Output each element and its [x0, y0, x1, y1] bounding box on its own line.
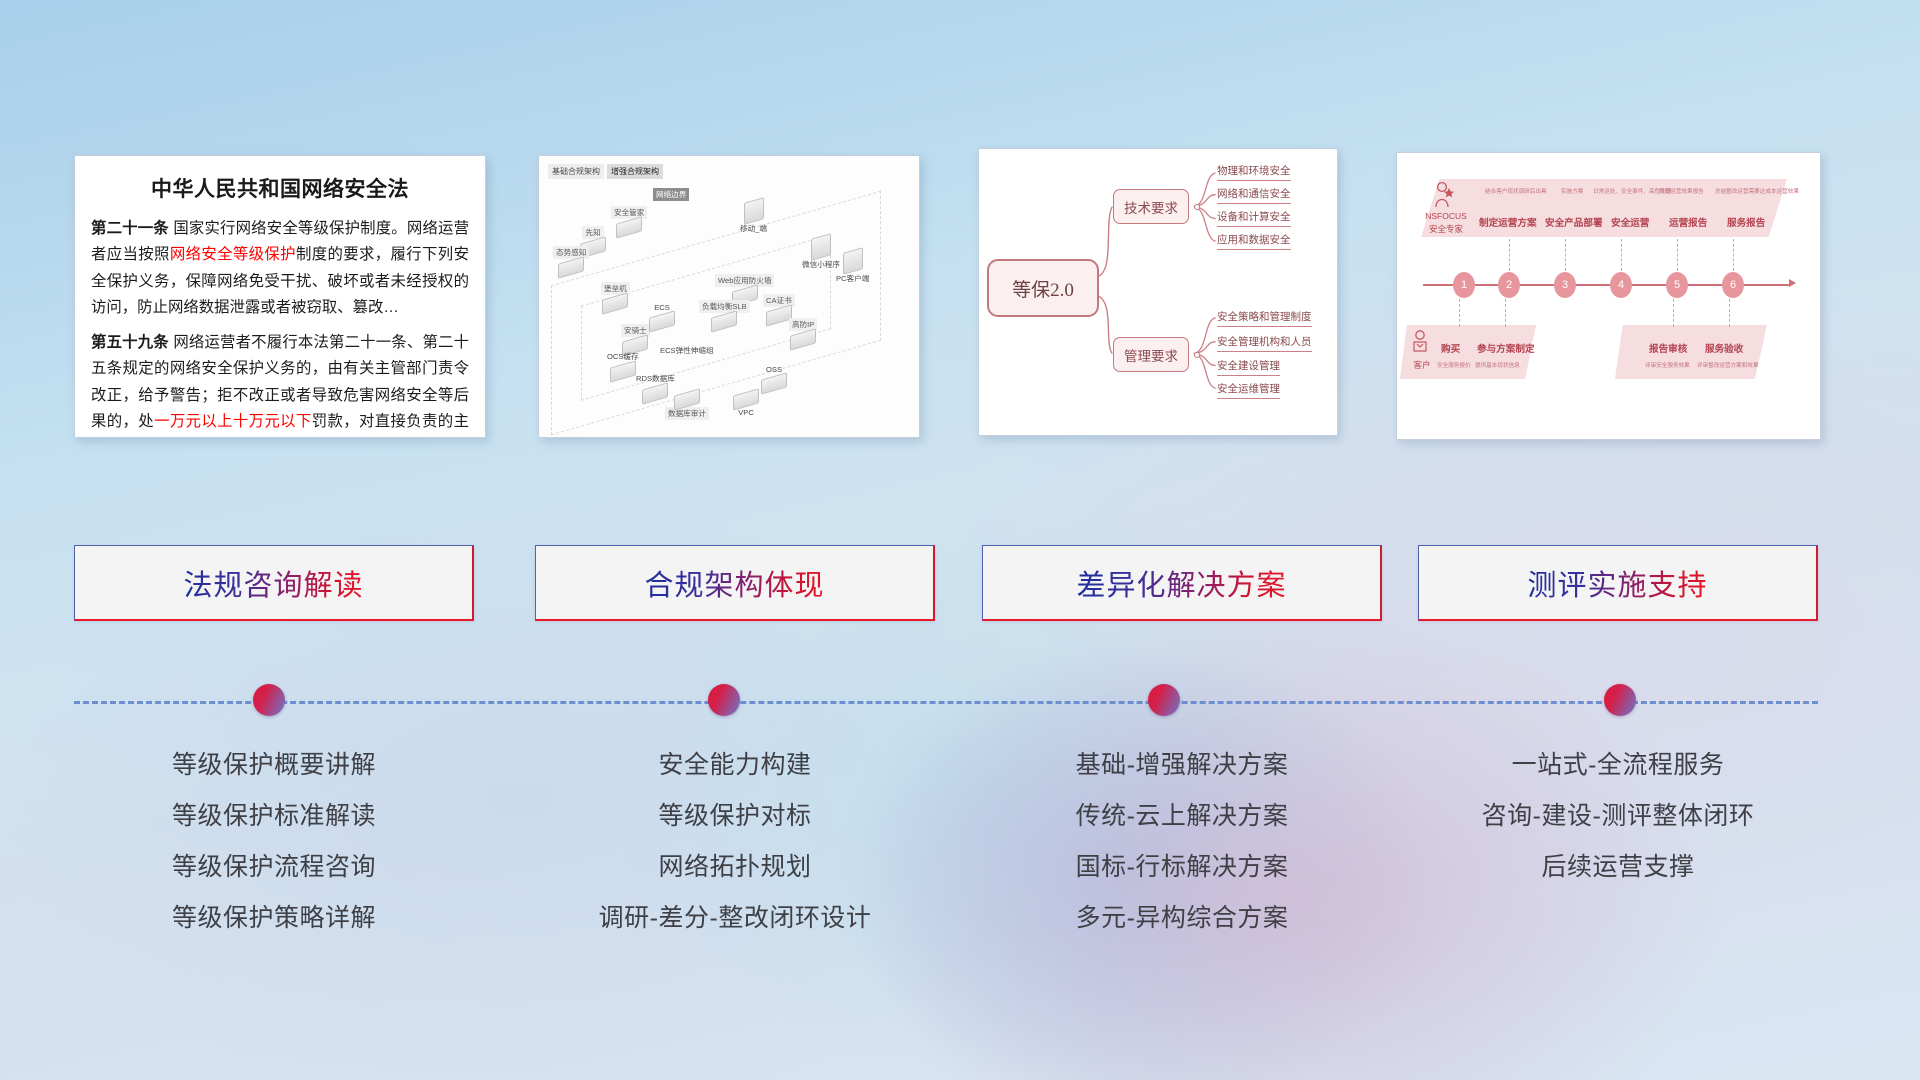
timeline-top-step-title: 安全产品部署	[1545, 215, 1603, 229]
architecture-node-security-butler: 安全管家	[611, 206, 647, 235]
rail-dot-3[interactable]	[1148, 684, 1180, 716]
mindmap-root-node: 等保2.0	[987, 259, 1099, 317]
timeline-connector	[1459, 299, 1460, 327]
architecture-node-label: PC客户端	[833, 272, 872, 285]
law-article-59: 第五十九条 网络运营者不履行本法第二十一条、第二十五条规定的网络安全保护义务的，…	[91, 330, 469, 438]
timeline-top-step-sub: 阶段运营效果报告	[1659, 187, 1704, 195]
architecture-node-ecs-scaling-group: ECS弹性伸缩组	[657, 344, 717, 358]
architecture-node-label: 数据库审计	[665, 407, 709, 420]
list-item: 等级保护流程咨询	[74, 842, 474, 893]
architecture-node-label: RDS数据库	[633, 372, 678, 385]
rail-dot-4[interactable]	[1604, 684, 1636, 716]
column-list-4: 一站式-全流程服务 咨询-建设-测评整体闭环 后续运营支撑	[1418, 740, 1818, 893]
customer-person-icon	[1411, 329, 1431, 357]
timeline-step-sub: 评审安全服务效果	[1645, 361, 1690, 369]
timeline-step-sub: 提供基本现状信息	[1475, 361, 1520, 369]
column-title-label: 差异化解决方案	[1076, 562, 1286, 604]
law-document-title: 中华人民共和国网络安全法	[75, 173, 485, 203]
architecture-tabs[interactable]: 基础合规架构 增强合规架构	[548, 164, 663, 179]
architecture-canvas: 网络边界 安全管家 先知 态势感知 堡垒机 安骑士 移动_端	[549, 178, 909, 427]
architecture-node-slb: 负载均衡SLB	[699, 300, 750, 329]
service-timeline: NSFOCUS 安全专家 结合客户现状调研后出具 制定运营方案 实施方案 安全产…	[1397, 153, 1820, 439]
column-title-box-4[interactable]: 测评实施支持	[1418, 545, 1818, 621]
timeline-step-title: 服务验收	[1705, 341, 1743, 355]
architecture-chip	[761, 372, 787, 394]
column-list-2: 安全能力构建 等级保护对标 网络拓扑规划 调研-差分-整改闭环设计	[535, 740, 935, 944]
timeline-top-step-sub: 实施方案	[1561, 187, 1583, 195]
timeline-arrow-icon	[1789, 279, 1796, 287]
architecture-node-ecs: ECS	[649, 302, 675, 329]
architecture-node-pc-client: PC客户端	[833, 250, 872, 286]
timeline-top-step-sub: 总结整改运营需要达成本运营效果	[1715, 187, 1799, 195]
architecture-node-situational-awareness: 态势感知	[553, 246, 589, 275]
timeline-customer-role-label: 客户	[1409, 359, 1435, 371]
law-article-21-highlight: 网络安全等级保护	[170, 246, 296, 263]
architecture-chip	[744, 197, 764, 225]
timeline-node-3[interactable]: 3	[1554, 272, 1576, 298]
law-article-59-label: 第五十九条	[91, 334, 169, 351]
architecture-chip	[811, 233, 831, 261]
list-item: 调研-差分-整改闭环设计	[535, 893, 935, 944]
mindmap-collapse-dot-icon[interactable]	[1194, 204, 1200, 210]
timeline-step-sub: 评审整改运营方案和效果	[1697, 361, 1759, 369]
law-article-59-highlight-1: 一万元以上十万元以下	[154, 413, 312, 430]
law-document-body: 第二十一条 国家实行网络安全等级保护制度。网络运营者应当按照网络安全等级保护制度…	[75, 216, 485, 438]
architecture-node-label: Web应用防火墙	[715, 274, 774, 287]
list-item: 等级保护标准解读	[74, 791, 474, 842]
architecture-tab-basic[interactable]: 基础合规架构	[548, 164, 604, 179]
architecture-node-bastion-host: 堡垒机	[601, 282, 630, 311]
architecture-diagram: 基础合规架构 增强合规架构 网络边界 安全管家 先知 态势感知	[539, 156, 919, 437]
list-item: 网络拓扑规划	[535, 842, 935, 893]
card-cybersecurity-law[interactable]: 中华人民共和国网络安全法 第二十一条 国家实行网络安全等级保护制度。网络运营者应…	[74, 155, 486, 438]
list-item: 安全能力构建	[535, 740, 935, 791]
list-item: 多元-异构综合方案	[982, 893, 1382, 944]
timeline-connector	[1673, 299, 1674, 327]
timeline-connector	[1733, 239, 1734, 271]
timeline-node-5[interactable]: 5	[1666, 272, 1688, 298]
column-title-label: 合规架构体现	[644, 562, 824, 604]
timeline-top-step-title: 安全运营	[1611, 215, 1649, 229]
timeline-top-step-sub: 结合客户现状调研后出具	[1485, 187, 1547, 195]
timeline-connector	[1621, 239, 1622, 271]
mindmap-collapse-dot-icon[interactable]	[1194, 352, 1200, 358]
mindmap-leaf: 安全运维管理	[1217, 381, 1280, 399]
timeline-connector	[1729, 299, 1730, 327]
list-item: 等级保护策略详解	[74, 893, 474, 944]
list-item: 咨询-建设-测评整体闭环	[1418, 791, 1818, 842]
timeline-step-title: 购买	[1441, 341, 1460, 355]
timeline-connector	[1509, 239, 1510, 271]
list-item: 等级保护对标	[535, 791, 935, 842]
timeline-connector	[1565, 239, 1566, 271]
column-title-box-3[interactable]: 差异化解决方案	[982, 545, 1382, 621]
architecture-node-label: ECS弹性伸缩组	[657, 344, 717, 357]
architecture-node-anti-ddos-ip: 高防IP	[789, 318, 817, 347]
mindmap-leaf: 设备和计算安全	[1217, 209, 1291, 227]
architecture-node-label: 移动_端	[737, 222, 770, 235]
list-item: 等级保护概要讲解	[74, 740, 474, 791]
timeline-step-sub: 安全服务报价	[1437, 361, 1471, 369]
timeline-step-title: 报告审核	[1649, 341, 1687, 355]
timeline-customer-band-right	[1615, 325, 1767, 379]
architecture-node-label: 负载均衡SLB	[699, 300, 750, 313]
screenshot-cards-row: 中华人民共和国网络安全法 第二十一条 国家实行网络安全等级保护制度。网络运营者应…	[0, 0, 1920, 450]
timeline-top-step-title: 制定运营方案	[1479, 215, 1537, 229]
timeline-top-step-title: 服务报告	[1727, 215, 1765, 229]
column-title-label: 测评实施支持	[1527, 562, 1707, 604]
timeline-connector	[1677, 239, 1678, 271]
architecture-node-mobile-client: 移动_端	[737, 200, 770, 236]
card-service-timeline[interactable]: NSFOCUS 安全专家 结合客户现状调研后出具 制定运营方案 实施方案 安全产…	[1396, 152, 1821, 440]
rail-dot-2[interactable]	[708, 684, 740, 716]
mindmap-leaf: 安全策略和管理制度	[1217, 309, 1312, 327]
list-item: 后续运营支撑	[1418, 842, 1818, 893]
mindmap: 等保2.0 技术要求 物理和环境安全 网络和通信安全 设备和计算安全 应用和数据…	[979, 149, 1337, 435]
list-item: 国标-行标解决方案	[982, 842, 1382, 893]
timeline-top-step-title: 运营报告	[1669, 215, 1707, 229]
column-title-box-1[interactable]: 法规咨询解读	[74, 545, 474, 621]
column-list-1: 等级保护概要讲解 等级保护标准解读 等级保护流程咨询 等级保护策略详解	[74, 740, 474, 944]
rail-dot-1[interactable]	[253, 684, 285, 716]
timeline-step-title: 参与方案制定	[1477, 341, 1535, 355]
timeline-node-4[interactable]: 4	[1610, 272, 1632, 298]
mindmap-leaf: 安全管理机构和人员	[1217, 334, 1312, 352]
timeline-dashed-rail	[74, 701, 1818, 704]
architecture-node-database-audit: 数据库审计	[665, 392, 709, 421]
mindmap-leaf: 物理和环境安全	[1217, 163, 1291, 181]
card-dengbao-mindmap[interactable]: 等保2.0 技术要求 物理和环境安全 网络和通信安全 设备和计算安全 应用和数据…	[978, 148, 1338, 436]
architecture-badge-label: 网络边界	[653, 188, 689, 201]
architecture-chip	[843, 247, 863, 275]
card-cloud-architecture[interactable]: 基础合规架构 增强合规架构 网络边界 安全管家 先知 态势感知	[538, 155, 920, 438]
timeline-brand-label: NSFOCUS	[1423, 211, 1469, 221]
mindmap-leaf: 应用和数据安全	[1217, 232, 1291, 250]
timeline-brand-role-label: 安全专家	[1423, 223, 1469, 235]
timeline-connector	[1505, 299, 1506, 327]
column-list-3: 基础-增强解决方案 传统-云上解决方案 国标-行标解决方案 多元-异构综合方案	[982, 740, 1382, 944]
mindmap-branch-management: 管理要求	[1113, 337, 1189, 372]
architecture-node-oss: OSS	[761, 364, 787, 391]
list-item: 基础-增强解决方案	[982, 740, 1382, 791]
timeline-node-6[interactable]: 6	[1722, 272, 1744, 298]
architecture-chip	[616, 216, 642, 238]
column-title-box-2[interactable]: 合规架构体现	[535, 545, 935, 621]
mindmap-leaf: 安全建设管理	[1217, 358, 1280, 376]
law-article-21-label: 第二十一条	[91, 220, 169, 237]
architecture-node-vpc: VPC	[733, 392, 759, 419]
architecture-node-label: OCS缓存	[604, 350, 642, 363]
mindmap-leaf: 网络和通信安全	[1217, 186, 1291, 204]
architecture-node-boundary-badge: 网络边界	[653, 188, 689, 202]
timeline-node-2[interactable]: 2	[1498, 272, 1520, 298]
timeline-node-1[interactable]: 1	[1453, 272, 1475, 298]
column-title-label: 法规咨询解读	[183, 562, 363, 604]
mindmap-branch-technical: 技术要求	[1113, 189, 1189, 224]
expert-person-icon	[1433, 181, 1455, 211]
architecture-chip	[558, 256, 584, 278]
list-item: 一站式-全流程服务	[1418, 740, 1818, 791]
law-article-21: 第二十一条 国家实行网络安全等级保护制度。网络运营者应当按照网络安全等级保护制度…	[91, 216, 469, 322]
list-item: 传统-云上解决方案	[982, 791, 1382, 842]
architecture-node-anqishi: 安骑士	[621, 324, 650, 353]
architecture-tab-enhanced[interactable]: 增强合规架构	[607, 164, 663, 179]
